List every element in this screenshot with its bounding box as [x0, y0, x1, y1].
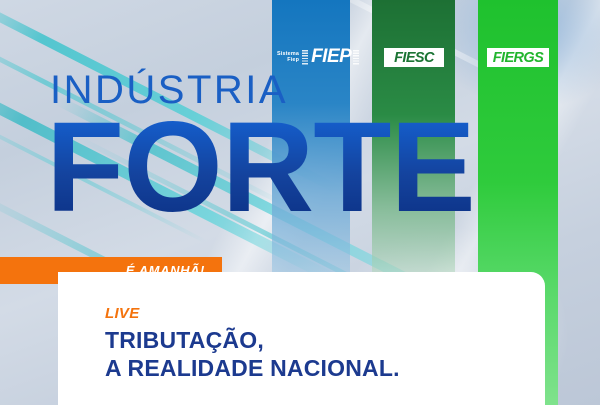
logo-fiep-dot-separator [302, 50, 308, 65]
event-title: TRIBUTAÇÃO, A REALIDADE NACIONAL. [105, 326, 400, 382]
live-badge: LIVE [105, 306, 400, 321]
logo-fiesc: FIESC [384, 48, 444, 67]
headline-forte: FORTE [46, 104, 475, 232]
event-title-line1: TRIBUTAÇÃO, [105, 326, 400, 354]
logo-fiep-wordmark: FIEP [311, 46, 351, 68]
logo-fiep: Sistema Fiep FIEP [277, 46, 362, 68]
logo-fiep-prefix-line2: Fiep [277, 57, 299, 63]
info-card-content: LIVE TRIBUTAÇÃO, A REALIDADE NACIONAL. [105, 306, 400, 382]
logo-fiep-dot-separator-right [353, 50, 359, 65]
logo-fiergs: FIERGS [487, 48, 549, 67]
promo-poster: Sistema Fiep FIEP FIESC FIERGS INDÚSTRIA… [0, 0, 600, 405]
event-title-line2: A REALIDADE NACIONAL. [105, 354, 400, 382]
logo-fiep-prefix: Sistema Fiep [277, 51, 299, 63]
logo-fiesc-wordmark: FIESC [394, 50, 434, 66]
logo-fiergs-wordmark: FIERGS [493, 50, 543, 66]
info-card: LIVE TRIBUTAÇÃO, A REALIDADE NACIONAL. [58, 272, 545, 405]
